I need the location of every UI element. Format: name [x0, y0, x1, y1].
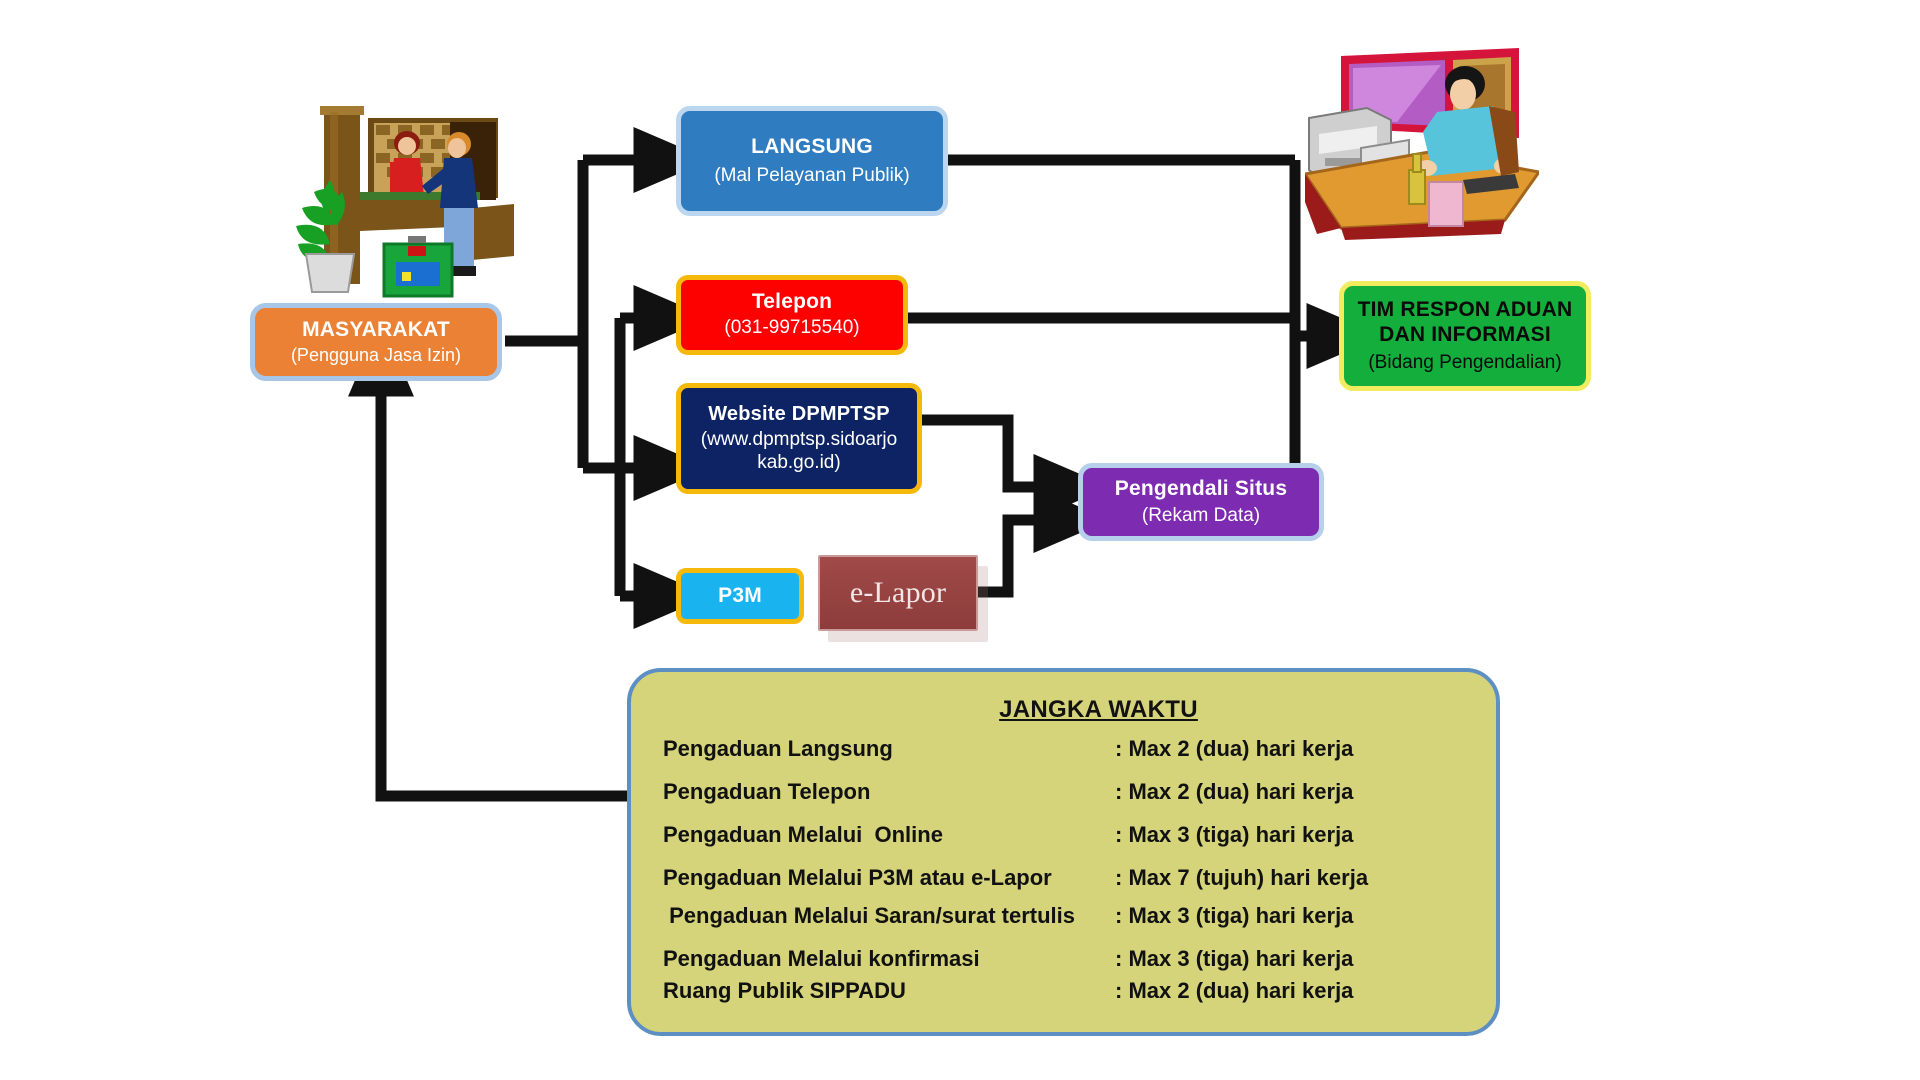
reception-desk-illustration: [272, 96, 516, 300]
node-telepon-title: Telepon: [752, 290, 832, 315]
jangka-waktu-value: : Max 2 (dua) hari kerja: [1115, 779, 1353, 805]
jangka-waktu-row: Pengaduan Melalui P3M atau e-Lapor : Max…: [631, 865, 1496, 891]
node-masyarakat-title: MASYARAKAT: [302, 318, 450, 343]
node-telepon[interactable]: Telepon (031-99715540): [676, 275, 908, 355]
node-tim-title-line1: TIM RESPON ADUAN: [1358, 298, 1573, 323]
node-langsung[interactable]: LANGSUNG (Mal Pelayanan Publik): [676, 106, 948, 216]
jangka-waktu-label: Ruang Publik SIPPADU: [663, 978, 1115, 1004]
node-langsung-title: LANGSUNG: [751, 135, 873, 160]
node-pengendali-title: Pengendali Situs: [1115, 477, 1287, 502]
node-tim-subtitle: (Bidang Pengendalian): [1368, 352, 1561, 374]
panel-jangka-waktu-title: JANGKA WAKTU: [631, 696, 1496, 724]
jangka-waktu-value: : Max 2 (dua) hari kerja: [1115, 736, 1353, 762]
node-elapor-title: e-Lapor: [850, 575, 946, 610]
jangka-waktu-label: Pengaduan Langsung: [663, 736, 1115, 762]
jangka-waktu-value: : Max 3 (tiga) hari kerja: [1115, 822, 1353, 848]
jangka-waktu-value: : Max 3 (tiga) hari kerja: [1115, 946, 1353, 972]
jangka-waktu-label: Pengaduan Melalui konfirmasi: [663, 946, 1115, 972]
jangka-waktu-label: Pengaduan Melalui Saran/surat tertulis: [663, 903, 1115, 929]
node-tim-respon-aduan[interactable]: TIM RESPON ADUAN DAN INFORMASI (Bidang P…: [1339, 281, 1591, 391]
jangka-waktu-row-group: Pengaduan Melalui konfirmasi Ruang Publi…: [631, 946, 1496, 1010]
diagram-canvas: MASYARAKAT (Pengguna Jasa Izin) LANGSUNG…: [0, 0, 1920, 1080]
node-telepon-phone-number: (031-99715540): [724, 317, 859, 339]
jangka-waktu-row: Pengaduan Langsung : Max 2 (dua) hari ke…: [631, 736, 1496, 762]
jangka-waktu-row: Pengaduan Telepon : Max 2 (dua) hari ker…: [631, 779, 1496, 805]
jangka-waktu-label: Pengaduan Melalui Online: [663, 822, 1115, 848]
node-p3m[interactable]: P3M: [676, 568, 804, 624]
jangka-waktu-value: : Max 3 (tiga) hari kerja: [1115, 903, 1353, 929]
node-website-title: Website DPMPTSP: [708, 403, 890, 427]
node-p3m-title: P3M: [718, 584, 762, 609]
jangka-waktu-row: Pengaduan Melalui Saran/surat tertulis :…: [631, 903, 1496, 929]
node-pengendali-subtitle: (Rekam Data): [1142, 505, 1260, 527]
node-tim-title-line2: DAN INFORMASI: [1379, 323, 1551, 348]
node-masyarakat[interactable]: MASYARAKAT (Pengguna Jasa Izin): [250, 303, 502, 381]
node-elapor[interactable]: e-Lapor: [818, 555, 978, 631]
jangka-waktu-value: : Max 7 (tujuh) hari kerja: [1115, 865, 1368, 891]
jangka-waktu-value: : Max 2 (dua) hari kerja: [1115, 978, 1353, 1004]
jangka-waktu-label: Pengaduan Telepon: [663, 779, 1115, 805]
node-pengendali-situs[interactable]: Pengendali Situs (Rekam Data): [1078, 463, 1324, 541]
node-langsung-subtitle: (Mal Pelayanan Publik): [714, 165, 909, 187]
node-website-url-line2: kab.go.id): [757, 452, 840, 474]
node-website-url-line1: (www.dpmptsp.sidoarjo: [701, 429, 897, 451]
node-masyarakat-subtitle: (Pengguna Jasa Izin): [291, 345, 461, 366]
panel-jangka-waktu: JANGKA WAKTU Pengaduan Langsung : Max 2 …: [627, 668, 1500, 1036]
jangka-waktu-label: Pengaduan Melalui P3M atau e-Lapor: [663, 865, 1115, 891]
jangka-waktu-row: Pengaduan Melalui Online : Max 3 (tiga) …: [631, 822, 1496, 848]
node-website[interactable]: Website DPMPTSP (www.dpmptsp.sidoarjo ka…: [676, 383, 922, 494]
office-worker-computer-illustration: [1305, 42, 1539, 242]
